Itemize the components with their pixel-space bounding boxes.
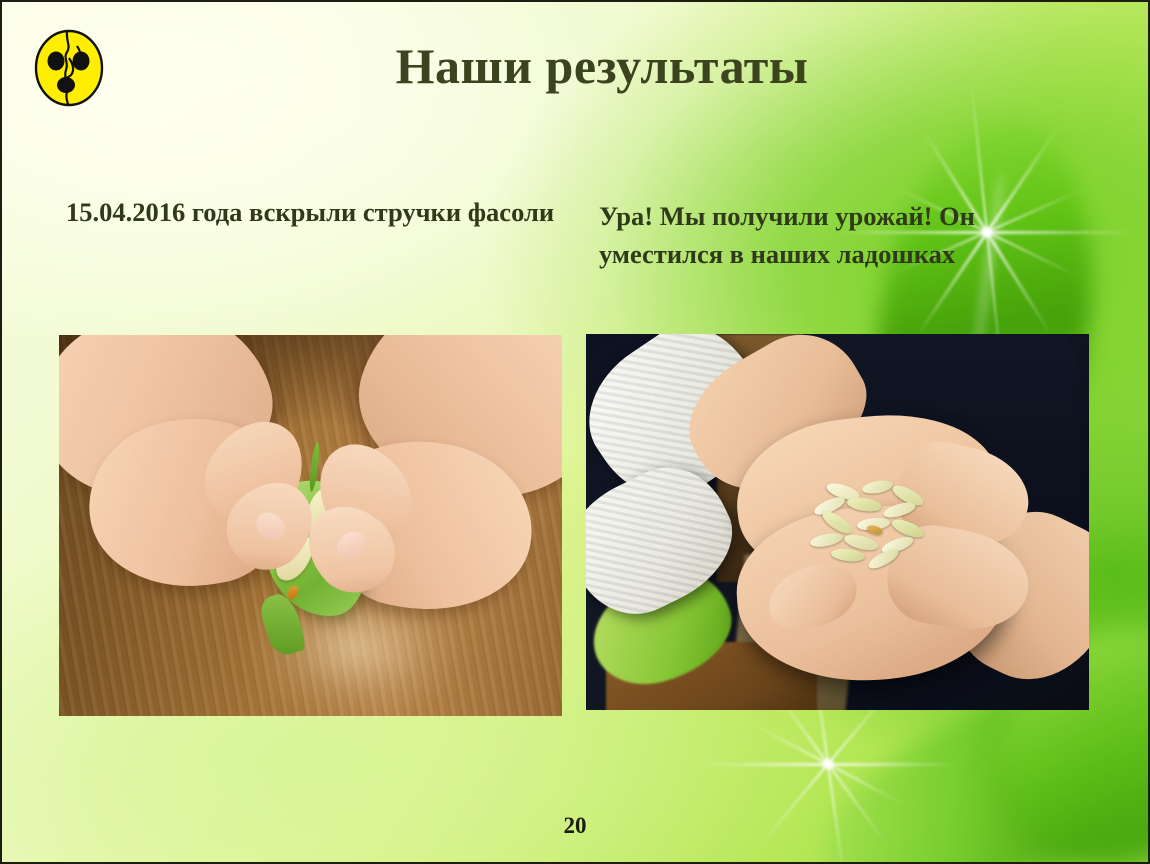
caption-right-photo: Ура! Мы получили урожай! Он уместился в … — [599, 198, 1019, 273]
photo-opening-bean-pod[interactable] — [59, 335, 562, 716]
page-number: 20 — [2, 813, 1148, 839]
bean-seed — [830, 547, 865, 562]
page-title: Наши результаты — [132, 40, 1072, 93]
bean-seed — [809, 530, 843, 548]
photo-content — [586, 334, 1089, 710]
bean-seed — [882, 500, 917, 520]
cracked-yellow-face-icon — [33, 28, 105, 108]
bean-seed — [861, 478, 894, 495]
photo-content — [59, 335, 562, 716]
bean-seed — [846, 496, 883, 513]
caption-left-photo: 15.04.2016 года вскрыли стручки фасоли — [66, 194, 566, 232]
photo-harvest-in-hands[interactable] — [586, 334, 1089, 710]
flare-core — [821, 757, 835, 771]
presentation-slide: Наши результаты 15.04.2016 года вскрыли … — [0, 0, 1150, 864]
harvested-bean-pile — [807, 477, 938, 575]
